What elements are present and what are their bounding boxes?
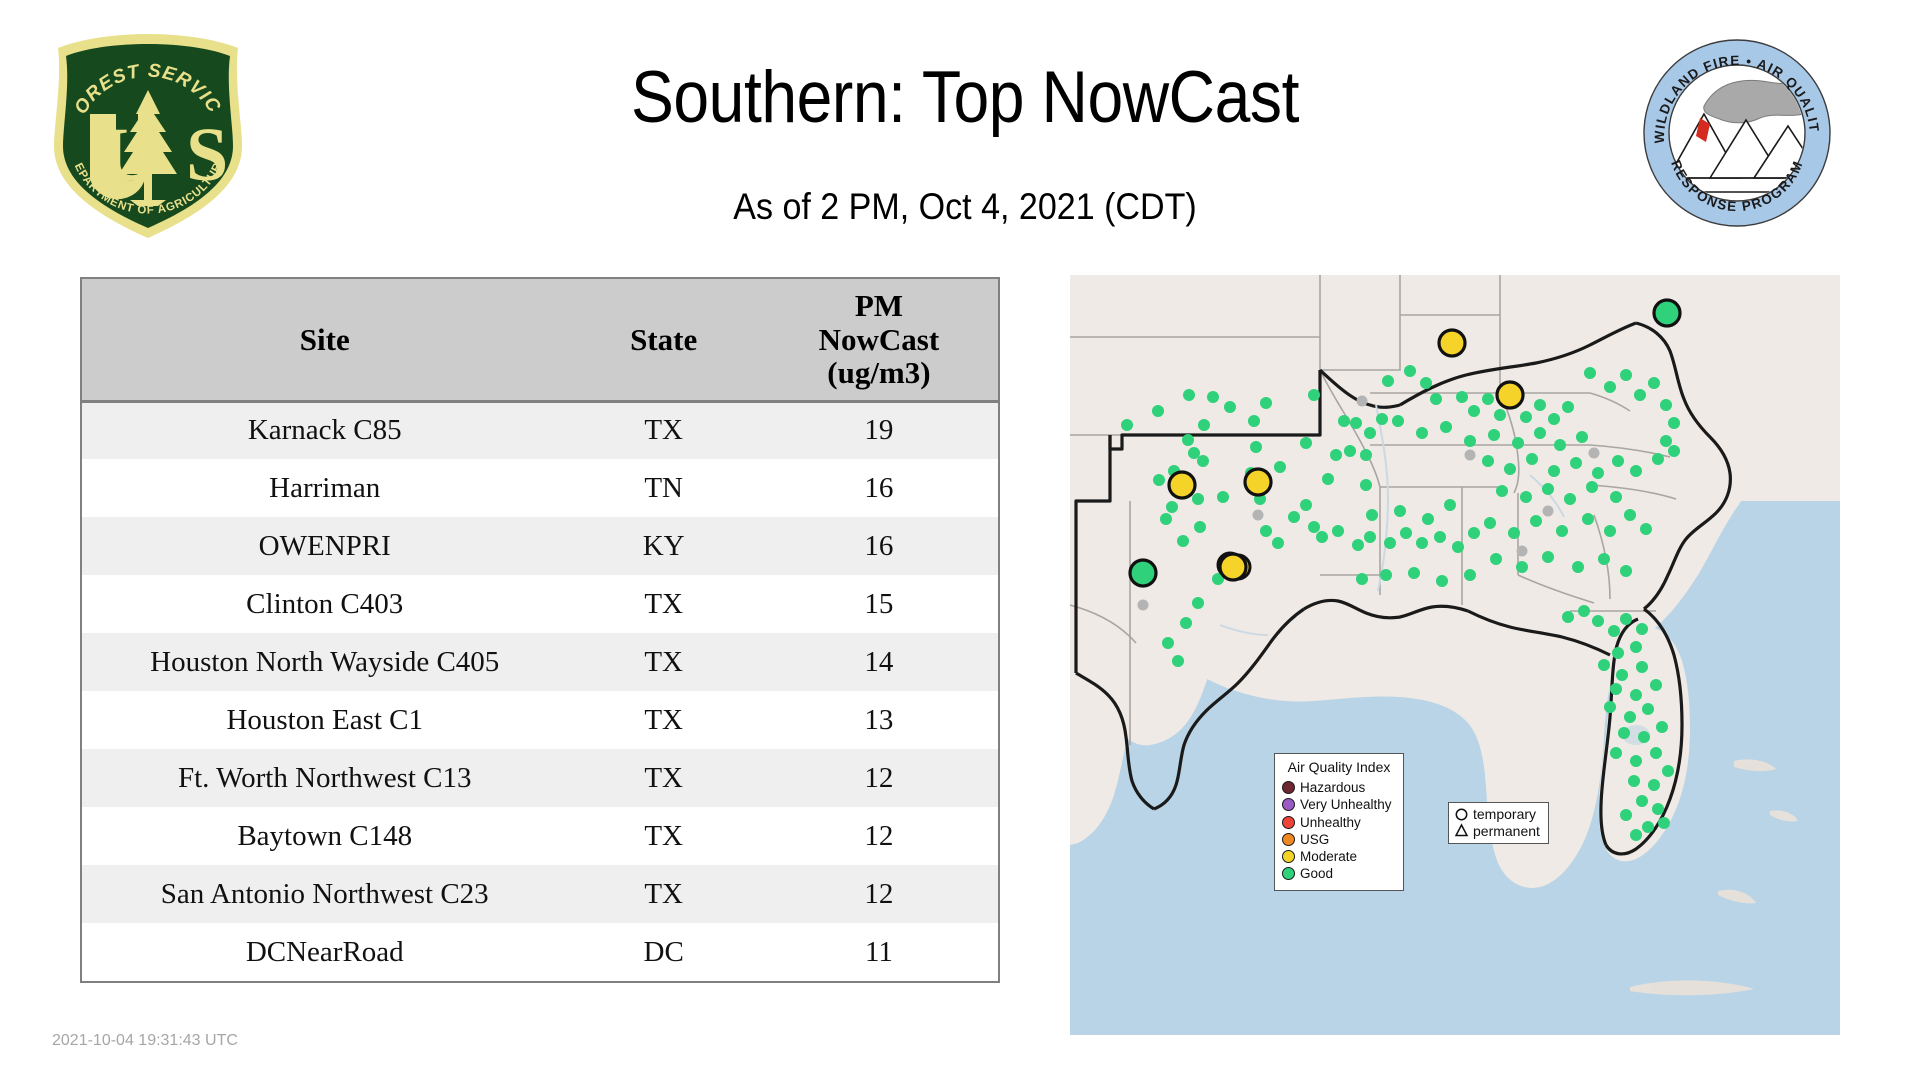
aqi-label-good: Good bbox=[1300, 865, 1333, 882]
cell-value: 13 bbox=[760, 691, 998, 749]
nowcast-table-container: Site State PM NowCast (ug/m3) Karnack C8… bbox=[80, 277, 1000, 983]
table-row[interactable]: Karnack C85 TX 19 bbox=[82, 401, 998, 459]
generated-timestamp: 2021-10-04 19:31:43 UTC bbox=[52, 1032, 238, 1050]
cell-value: 19 bbox=[760, 401, 998, 459]
aqi-legend-item-good: Good bbox=[1282, 865, 1396, 882]
aqi-label-moderate: Moderate bbox=[1300, 848, 1357, 865]
aqi-swatch-hazardous bbox=[1282, 781, 1295, 794]
aqi-map[interactable] bbox=[1070, 275, 1840, 1035]
aqi-legend-title: Air Quality Index bbox=[1282, 759, 1396, 775]
slide-root: FOREST SERVICE DEPARTMENT OF AGRICULTURE… bbox=[0, 0, 1920, 1080]
cell-site: San Antonio Northwest C23 bbox=[82, 865, 567, 923]
aqi-legend-item-very-unhealthy: Very Unhealthy bbox=[1282, 796, 1396, 813]
aqi-legend: Air Quality Index Hazardous Very Unhealt… bbox=[1274, 753, 1404, 891]
cell-value: 12 bbox=[760, 807, 998, 865]
aqi-label-hazardous: Hazardous bbox=[1300, 779, 1365, 796]
table-row[interactable]: Ft. Worth Northwest C13 TX 12 bbox=[82, 749, 998, 807]
cell-value: 11 bbox=[760, 923, 998, 981]
header-text-nowcast: NowCast bbox=[764, 323, 994, 356]
aqi-legend-item-hazardous: Hazardous bbox=[1282, 779, 1396, 796]
aqi-swatch-very-unhealthy bbox=[1282, 798, 1295, 811]
header-text-pm: PM bbox=[764, 289, 994, 322]
cell-state: TN bbox=[567, 459, 759, 517]
aqi-label-usg: USG bbox=[1300, 831, 1329, 848]
nowcast-table: Site State PM NowCast (ug/m3) Karnack C8… bbox=[82, 279, 998, 981]
aqi-swatch-unhealthy bbox=[1282, 816, 1295, 829]
cell-state: TX bbox=[567, 865, 759, 923]
page-title: Southern: Top NowCast bbox=[380, 56, 1550, 139]
cell-site: Ft. Worth Northwest C13 bbox=[82, 749, 567, 807]
aqi-legend-item-usg: USG bbox=[1282, 831, 1396, 848]
aqi-swatch-moderate bbox=[1282, 850, 1295, 863]
aqi-legend-item-unhealthy: Unhealthy bbox=[1282, 814, 1396, 831]
cell-site: Harriman bbox=[82, 459, 567, 517]
table-row[interactable]: DCNearRoad DC 11 bbox=[82, 923, 998, 981]
page-subtitle: As of 2 PM, Oct 4, 2021 (CDT) bbox=[353, 186, 1577, 228]
aqi-legend-item-moderate: Moderate bbox=[1282, 848, 1396, 865]
legend-item-permanent: permanent bbox=[1454, 823, 1540, 840]
column-header-state[interactable]: State bbox=[567, 279, 759, 401]
table-row[interactable]: Clinton C403 TX 15 bbox=[82, 575, 998, 633]
cell-value: 15 bbox=[760, 575, 998, 633]
cell-site: Houston North Wayside C405 bbox=[82, 633, 567, 691]
usfs-shield-logo: FOREST SERVICE DEPARTMENT OF AGRICULTURE… bbox=[46, 28, 251, 243]
cell-state: TX bbox=[567, 807, 759, 865]
aqi-label-very-unhealthy: Very Unhealthy bbox=[1300, 796, 1392, 813]
header-text-units: (ug/m3) bbox=[764, 356, 994, 389]
cell-value: 16 bbox=[760, 459, 998, 517]
cell-value: 16 bbox=[760, 517, 998, 575]
cell-site: Karnack C85 bbox=[82, 401, 567, 459]
legend-label-permanent: permanent bbox=[1473, 823, 1540, 840]
cell-value: 14 bbox=[760, 633, 998, 691]
monitor-type-legend: temporary permanent bbox=[1448, 802, 1549, 844]
cell-state: DC bbox=[567, 923, 759, 981]
cell-site: Baytown C148 bbox=[82, 807, 567, 865]
table-header: Site State PM NowCast (ug/m3) bbox=[82, 279, 998, 401]
table-row[interactable]: Houston East C1 TX 13 bbox=[82, 691, 998, 749]
table-header-row: Site State PM NowCast (ug/m3) bbox=[82, 279, 998, 401]
cell-site: DCNearRoad bbox=[82, 923, 567, 981]
wfaqrp-logo: WILDLAND FIRE • AIR QUALITY RESPONSE PRO… bbox=[1642, 38, 1832, 228]
cell-site: OWENPRI bbox=[82, 517, 567, 575]
aqi-swatch-good bbox=[1282, 867, 1295, 880]
header-text-site: Site bbox=[300, 322, 350, 357]
cell-value: 12 bbox=[760, 865, 998, 923]
legend-item-temporary: temporary bbox=[1454, 806, 1540, 823]
table-row[interactable]: Harriman TN 16 bbox=[82, 459, 998, 517]
cell-state: TX bbox=[567, 575, 759, 633]
cell-state: TX bbox=[567, 633, 759, 691]
cell-value: 12 bbox=[760, 749, 998, 807]
aqi-label-unhealthy: Unhealthy bbox=[1300, 814, 1361, 831]
cell-state: KY bbox=[567, 517, 759, 575]
table-row[interactable]: OWENPRI KY 16 bbox=[82, 517, 998, 575]
cell-site: Clinton C403 bbox=[82, 575, 567, 633]
column-header-site[interactable]: Site bbox=[82, 279, 567, 401]
circle-icon bbox=[1454, 807, 1469, 822]
aqi-swatch-usg bbox=[1282, 833, 1295, 846]
cell-state: TX bbox=[567, 691, 759, 749]
table-row[interactable]: Baytown C148 TX 12 bbox=[82, 807, 998, 865]
cell-state: TX bbox=[567, 749, 759, 807]
legend-label-temporary: temporary bbox=[1473, 806, 1536, 823]
table-row[interactable]: Houston North Wayside C405 TX 14 bbox=[82, 633, 998, 691]
column-header-pm-nowcast[interactable]: PM NowCast (ug/m3) bbox=[760, 279, 998, 401]
cell-site: Houston East C1 bbox=[82, 691, 567, 749]
table-body: Karnack C85 TX 19 Harriman TN 16 OWENPRI… bbox=[82, 401, 998, 981]
triangle-icon bbox=[1454, 823, 1469, 838]
header-text-state: State bbox=[630, 322, 697, 357]
cell-state: TX bbox=[567, 401, 759, 459]
table-row[interactable]: San Antonio Northwest C23 TX 12 bbox=[82, 865, 998, 923]
svg-text:S: S bbox=[186, 113, 228, 197]
